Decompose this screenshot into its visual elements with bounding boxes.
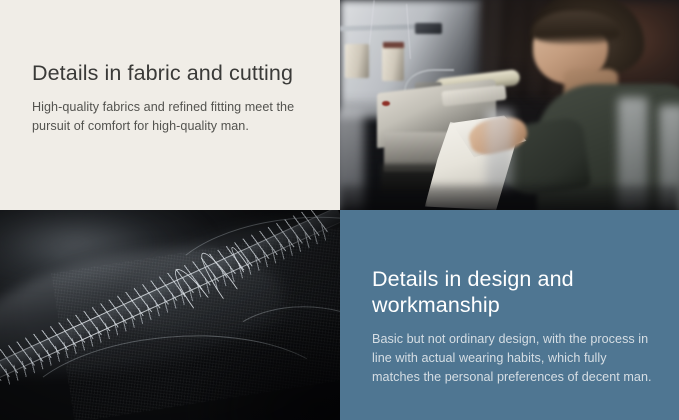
- promo-feature-grid: Details in fabric and cutting High-quali…: [0, 0, 679, 420]
- two-by-two-grid: Details in fabric and cutting High-quali…: [0, 0, 679, 420]
- fabric-heading: Details in fabric and cutting: [32, 60, 314, 86]
- panel-stitched-fabric-photo: [0, 210, 340, 420]
- thread-spool-center: [382, 45, 404, 81]
- panel-design-text: Details in design and workmanship Basic …: [340, 210, 679, 420]
- fabric-vignette: [0, 210, 340, 420]
- design-body: Basic but not ordinary design, with the …: [372, 330, 653, 387]
- machine-indicator-light: [382, 101, 389, 106]
- fabric-body: High-quality fabrics and refined fitting…: [32, 98, 314, 136]
- thread-spool-left: [345, 44, 369, 78]
- sewing-machine-image: [340, 0, 679, 210]
- design-heading: Details in design and workmanship: [372, 266, 653, 318]
- thread-spool-cap: [383, 42, 403, 48]
- foreground-shadow: [340, 185, 679, 210]
- fabric-text-block: Details in fabric and cutting High-quali…: [32, 60, 314, 136]
- panel-sewing-machine-photo: [340, 0, 679, 210]
- stitched-fabric-image: [0, 210, 340, 420]
- panel-fabric-text: Details in fabric and cutting High-quali…: [0, 0, 340, 210]
- foreground-bokeh-2: [486, 109, 513, 189]
- thread-guide-head: [415, 23, 442, 34]
- design-text-block: Details in design and workmanship Basic …: [372, 266, 653, 387]
